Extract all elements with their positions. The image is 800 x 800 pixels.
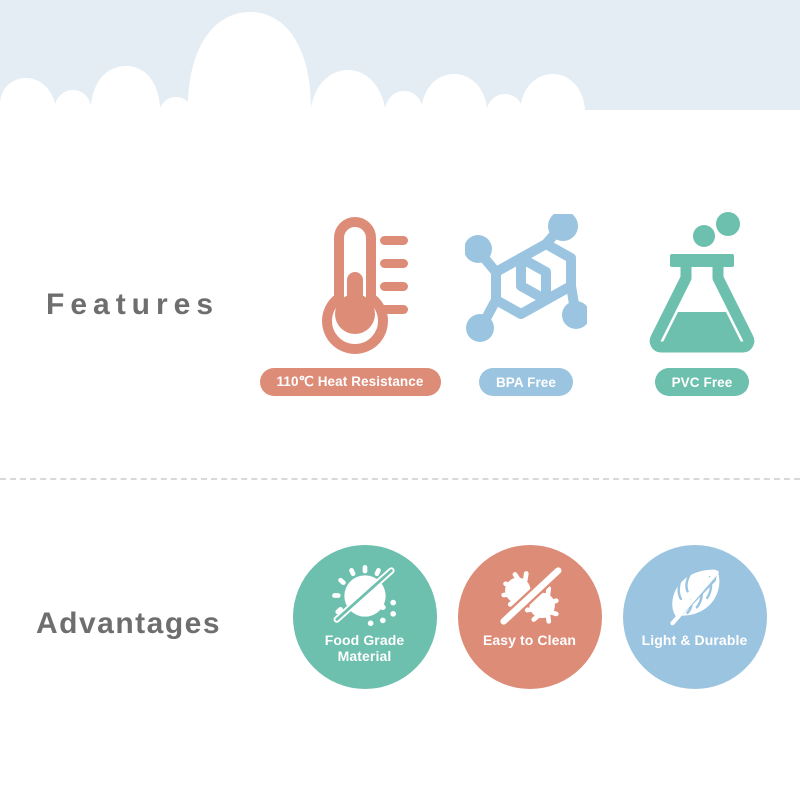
advantages-title: Advantages	[36, 607, 221, 641]
bubble-large	[716, 212, 740, 236]
feature-icon-wrap	[465, 200, 587, 368]
feather-icon	[659, 565, 731, 627]
advantage-item-food-grade[interactable]: Food Grade Material	[282, 545, 447, 720]
advantage-label-easy-to-clean: Easy to Clean	[477, 632, 582, 648]
cloud-illustration	[0, 0, 800, 165]
feature-icon-wrap	[291, 200, 409, 368]
feature-item-heat-resistance[interactable]: 110℃ Heat Resistance	[262, 200, 438, 430]
feature-label-heat-resistance: 110℃ Heat Resistance	[260, 368, 441, 396]
no-sun-dots-icon	[329, 565, 401, 627]
features-section: Features	[0, 200, 800, 430]
features-list: 110℃ Heat Resistance	[262, 200, 792, 430]
section-divider	[0, 478, 800, 480]
advantage-circle: Easy to Clean	[458, 545, 602, 689]
feature-item-bpa-free[interactable]: BPA Free	[438, 200, 614, 430]
advantage-circle: Light & Durable	[623, 545, 767, 689]
feature-item-pvc-free[interactable]: PVC Free	[614, 200, 790, 430]
no-germs-icon	[494, 565, 566, 627]
advantage-label-light-durable: Light & Durable	[636, 632, 754, 648]
advantage-label-food-grade: Food Grade Material	[319, 632, 411, 664]
advantage-item-easy-to-clean[interactable]: Easy to Clean	[447, 545, 612, 720]
molecule-icon	[465, 214, 587, 354]
feature-icon-wrap	[642, 200, 762, 368]
thermometer-icon	[291, 214, 409, 354]
feature-label-bpa-free: BPA Free	[479, 368, 573, 396]
bubble-small	[693, 225, 715, 247]
advantage-item-light-durable[interactable]: Light & Durable	[612, 545, 777, 720]
advantages-section: Advantages	[0, 545, 800, 725]
advantage-circle: Food Grade Material	[293, 545, 437, 689]
advantages-list: Food Grade Material	[282, 545, 782, 720]
feature-label-pvc-free: PVC Free	[655, 368, 750, 396]
flask-icon	[642, 212, 762, 357]
infographic-page: Features	[0, 0, 800, 800]
features-title: Features	[46, 288, 219, 322]
